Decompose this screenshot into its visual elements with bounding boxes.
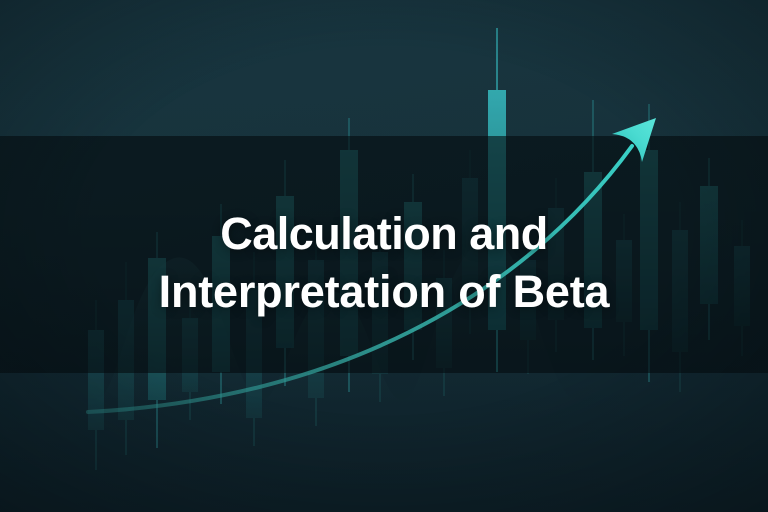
arrow-head-shape	[612, 118, 656, 162]
title-line-1: Calculation and	[0, 205, 768, 263]
title-line-2: Interpretation of Beta	[0, 263, 768, 321]
hero-banner: Calculation and Interpretation of Beta	[0, 0, 768, 512]
page-title: Calculation and Interpretation of Beta	[0, 205, 768, 321]
